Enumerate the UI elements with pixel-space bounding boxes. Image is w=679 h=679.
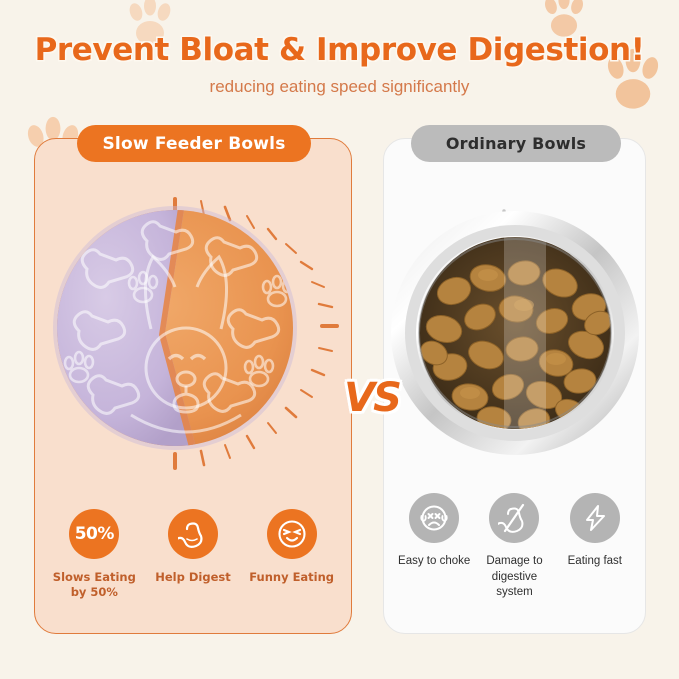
slow-feeder-badge: Slow Feeder Bowls bbox=[77, 125, 311, 162]
feature-label-line2: digestive system bbox=[474, 570, 554, 601]
feature-label: Funny Eating bbox=[244, 570, 340, 586]
lightning-bolt-icon bbox=[570, 493, 620, 543]
ordinary-bowl-panel: Ordinary Bowls bbox=[383, 138, 646, 634]
feature-label-line1: Slows Eating bbox=[46, 570, 142, 586]
slow-feeder-features: 50% Slows Eating by 50% Help Digest bbox=[35, 509, 351, 601]
feature-label: Easy to choke bbox=[394, 554, 474, 570]
versus-divider: VS bbox=[330, 370, 414, 426]
feature-label: Damage to digestive system bbox=[474, 554, 554, 601]
feature-slows-eating: 50% Slows Eating by 50% bbox=[46, 509, 142, 601]
slow-feeder-panel: Slow Feeder Bowls bbox=[34, 138, 352, 634]
happy-face-icon bbox=[267, 509, 317, 559]
feature-label: Eating fast bbox=[555, 554, 635, 570]
feature-easy-to-choke: Easy to choke bbox=[394, 493, 474, 570]
feature-funny-eating: Funny Eating bbox=[244, 509, 340, 586]
stomach-icon bbox=[168, 509, 218, 559]
page-subtitle: reducing eating speed significantly bbox=[0, 77, 679, 97]
feature-help-digest: Help Digest bbox=[145, 509, 241, 586]
feature-eating-fast: Eating fast bbox=[555, 493, 635, 570]
feature-label-line1: Damage to bbox=[474, 554, 554, 570]
percent-value: 50% bbox=[75, 524, 114, 544]
page-title: Prevent Bloat & Improve Digestion! bbox=[0, 32, 679, 68]
percent-badge-icon: 50% bbox=[69, 509, 119, 559]
feature-label: Help Digest bbox=[145, 570, 241, 586]
comparison-panels: Slow Feeder Bowls bbox=[0, 138, 679, 638]
header: Prevent Bloat & Improve Digestion! reduc… bbox=[0, 0, 679, 120]
ordinary-bowl-features: Easy to choke Damage to digestive system bbox=[384, 493, 645, 601]
choking-face-icon bbox=[409, 493, 459, 543]
ordinary-bowl-badge: Ordinary Bowls bbox=[411, 125, 621, 162]
slow-feeder-bowl-image bbox=[35, 183, 351, 473]
ordinary-bowl-image bbox=[384, 183, 645, 473]
feature-label: Slows Eating by 50% bbox=[46, 570, 142, 601]
feature-label-line2: by 50% bbox=[46, 585, 142, 601]
feature-damage-digestive: Damage to digestive system bbox=[474, 493, 554, 601]
stomach-prohibited-icon bbox=[489, 493, 539, 543]
